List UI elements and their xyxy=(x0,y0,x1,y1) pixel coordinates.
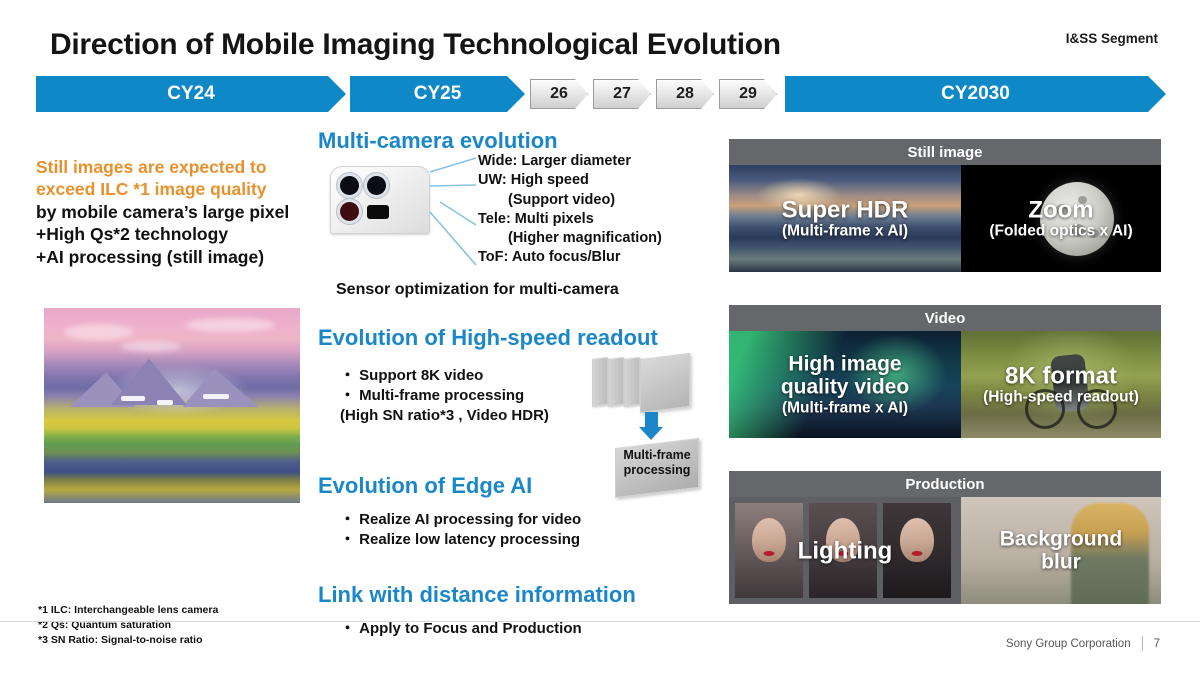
lead-black-line-2: +High Qs*2 technology xyxy=(36,223,326,245)
panel-video-title: Video xyxy=(729,305,1161,331)
down-arrow-icon xyxy=(645,412,658,428)
cell-super-hdr-sub: (Multi-frame x AI) xyxy=(729,222,961,240)
down-arrow-head-icon xyxy=(639,427,663,440)
middle-column: Multi-camera evolution Wide: Larger diam… xyxy=(318,0,718,675)
multi-frame-label-line-2: processing xyxy=(609,463,705,478)
lead-black-line-1: by mobile camera’s large pixel xyxy=(36,201,326,223)
panel-production-title: Production xyxy=(729,471,1161,497)
cell-hq-video-title2: quality video xyxy=(729,376,961,400)
frame-sheet-3 xyxy=(624,357,640,407)
footer: Sony Group Corporation 7 xyxy=(1006,636,1160,651)
panel-video-body: High image quality video (Multi-frame x … xyxy=(729,331,1161,438)
bullet-ai-video: ・ Realize AI processing for video xyxy=(340,510,640,530)
multi-frame-label: Multi-frame processing xyxy=(609,448,705,478)
cell-zoom-title: Zoom xyxy=(961,197,1161,222)
bullet-support-8k: ・ Support 8K video xyxy=(340,366,610,386)
cell-zoom-sub: (Folded optics x AI) xyxy=(961,222,1161,240)
edge-ai-bullets: ・ Realize AI processing for video ・ Real… xyxy=(340,510,640,550)
segment-tag: I&SS Segment xyxy=(1066,31,1158,46)
bullet-multi-frame-sub: (High SN ratio*3 , Video HDR) xyxy=(340,406,610,426)
footer-separator xyxy=(1142,636,1143,651)
cell-8k-sub: (High-speed readout) xyxy=(961,388,1161,406)
callout-uw: UW: High speed xyxy=(478,171,726,190)
frame-sheet-2 xyxy=(608,357,624,407)
cell-8k-format[interactable]: 8K format (High-speed readout) xyxy=(961,331,1161,438)
lead-orange-line-1: Still images are expected to xyxy=(36,156,326,178)
multi-frame-processing-graphic: Multi-frame processing xyxy=(591,358,711,493)
footnote-1: *1 ILC: Interchangeable lens camera xyxy=(38,603,218,618)
slide-root: Direction of Mobile Imaging Technologica… xyxy=(0,0,1200,675)
heading-edge-ai: Evolution of Edge AI xyxy=(318,473,532,498)
callout-uw-sub: (Support video) xyxy=(478,191,726,210)
sensor-optimization-summary: Sensor optimization for multi-camera xyxy=(336,281,619,299)
footer-divider xyxy=(0,621,1200,622)
cell-bg-blur-title2: blur xyxy=(961,551,1161,575)
cell-zoom[interactable]: Zoom (Folded optics x AI) xyxy=(961,165,1161,272)
footer-page-number: 7 xyxy=(1154,638,1160,650)
panel-still-image: Still image Super HDR (Multi-frame x AI)… xyxy=(729,139,1161,272)
cell-background-blur[interactable]: Background blur xyxy=(961,497,1161,604)
cell-8k-title: 8K format xyxy=(961,363,1161,388)
cell-hq-video-title: High image xyxy=(729,352,961,376)
lead-statement: Still images are expected to exceed ILC … xyxy=(36,156,326,268)
panel-still-image-title: Still image xyxy=(729,139,1161,165)
heading-high-speed-readout: Evolution of High-speed readout xyxy=(318,325,658,350)
heading-distance-information: Link with distance information xyxy=(318,582,636,607)
camera-callout-list: Wide: Larger diameter UW: High speed (Su… xyxy=(478,152,726,268)
callout-tele: Tele: Multi pixels xyxy=(478,210,726,229)
timeline-item-29[interactable]: 29 xyxy=(719,79,777,109)
footnote-3: *3 SN Ratio: Signal-to-noise ratio xyxy=(38,633,218,648)
frame-sheet-1 xyxy=(592,357,608,407)
callout-tof: ToF: Auto focus/Blur xyxy=(478,248,726,267)
timeline-item-cy2030[interactable]: CY2030 xyxy=(785,76,1166,112)
frame-sheet-4 xyxy=(640,353,690,413)
cell-super-hdr[interactable]: Super HDR (Multi-frame x AI) xyxy=(729,165,961,272)
landscape-photo xyxy=(44,308,300,503)
panel-production: Production Lighting Background blur xyxy=(729,471,1161,604)
footnotes: *1 ILC: Interchangeable lens camera *2 Q… xyxy=(38,603,218,649)
high-speed-readout-bullets: ・ Support 8K video ・ Multi-frame process… xyxy=(340,366,610,426)
footer-company: Sony Group Corporation xyxy=(1006,638,1131,650)
cell-super-hdr-title: Super HDR xyxy=(729,197,961,222)
bullet-multi-frame: ・ Multi-frame processing xyxy=(340,386,610,406)
multi-frame-label-line-1: Multi-frame xyxy=(609,448,705,463)
lead-black-line-3: +AI processing (still image) xyxy=(36,246,326,268)
cell-hq-video-sub: (Multi-frame x AI) xyxy=(729,399,961,417)
cell-bg-blur-title: Background xyxy=(961,527,1161,551)
callout-wide: Wide: Larger diameter xyxy=(478,152,726,171)
cell-high-image-quality-video[interactable]: High image quality video (Multi-frame x … xyxy=(729,331,961,438)
panel-production-body: Lighting Background blur xyxy=(729,497,1161,604)
cell-lighting[interactable]: Lighting xyxy=(729,497,961,604)
panel-video: Video High image quality video (Multi-fr… xyxy=(729,305,1161,438)
bullet-low-latency: ・ Realize low latency processing xyxy=(340,530,640,550)
lead-orange-line-2: exceed ILC *1 image quality xyxy=(36,178,326,200)
cell-lighting-title: Lighting xyxy=(729,538,961,563)
callout-tele-sub: (Higher magnification) xyxy=(478,229,726,248)
timeline-item-cy24[interactable]: CY24 xyxy=(36,76,346,112)
panel-still-image-body: Super HDR (Multi-frame x AI) Zoom (Folde… xyxy=(729,165,1161,272)
